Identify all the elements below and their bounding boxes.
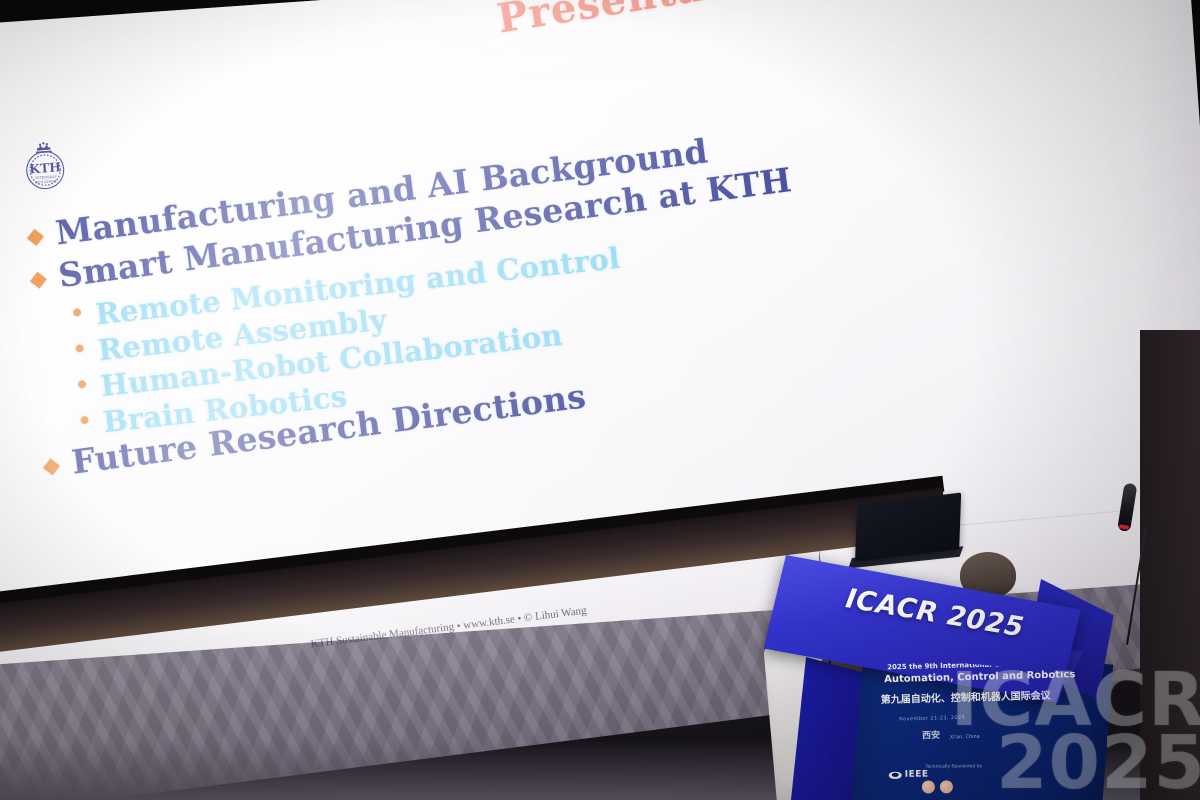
dot-bullet-icon: • [74,374,91,397]
svg-text:OCH KONST: OCH KONST [35,179,58,185]
lectern-podium: ICACR 2025 2025 the 9th International Co… [786,545,1200,800]
sponsor-logo-row [922,780,953,793]
diamond-bullet-icon: ◆ [42,454,62,478]
ieee-logo-icon: IEEE [889,770,929,780]
panel-dates: November 21-23, 2025 [899,715,965,723]
panel-conference-line-2: Automation, Control and Robotics [884,669,1075,685]
kth-logo-icon: KTH VETENSKAP OCH KONST [15,136,75,198]
dot-bullet-icon: • [77,410,94,433]
panel-city-en: Xi'an, China [950,734,980,741]
sponsor-logo-icon [940,780,953,793]
diamond-bullet-icon: ◆ [25,224,45,248]
ieee-label: IEEE [905,770,929,780]
ieee-diamond-icon [889,771,902,778]
sponsor-logo-icon [922,780,935,793]
panel-sponsor-label: Technically Sponsored by [925,764,982,769]
podium-front-panel: 2025 the 9th International Conference on… [866,657,1109,800]
diamond-bullet-icon: ◆ [28,267,48,291]
dot-bullet-icon: • [69,302,86,325]
panel-city-cn: 西安 [922,728,940,741]
outline-list: ◆ Manufacturing and AI Background ◆ Smar… [25,147,1042,489]
slide-title: Presentation Outline [494,0,1114,43]
dot-bullet-icon: • [72,338,89,361]
conference-room-photo: KTH VETENSKAP OCH KONST Presentation Out… [0,0,1200,800]
svg-text:KTH: KTH [29,159,62,176]
panel-conference-line-cn: 第九届自动化、控制和机器人国际会议 [881,687,1051,706]
